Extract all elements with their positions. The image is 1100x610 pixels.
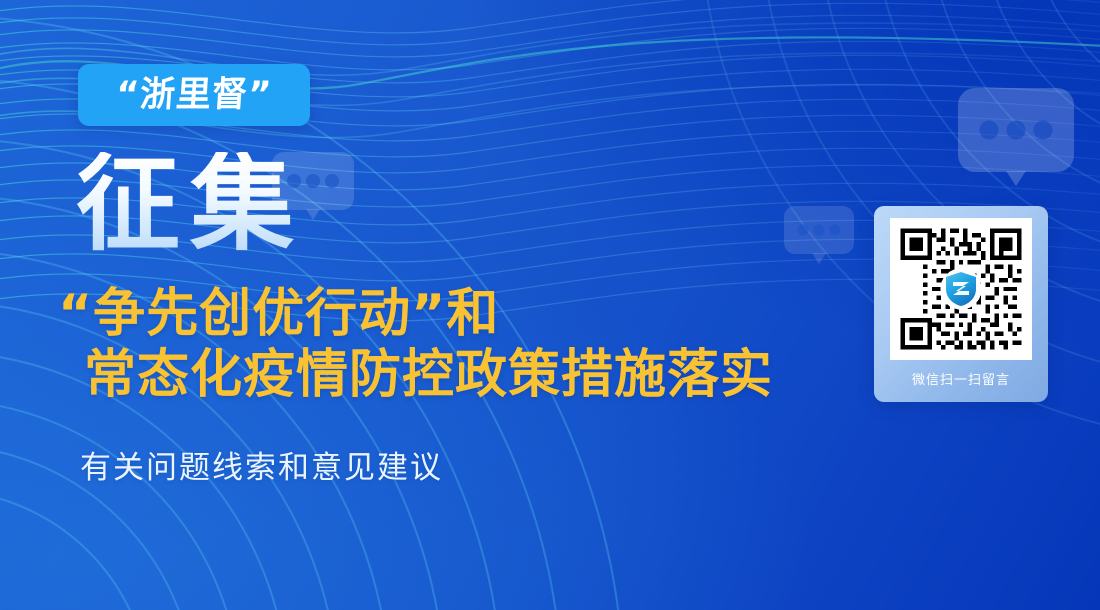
brand-badge: “浙里督” [78,64,310,126]
qr-panel: 微信扫一扫留言 [874,206,1048,402]
brand-badge-label: “浙里督” [115,78,273,113]
zhengji-title: 征集 [76,152,304,256]
qr-caption: 微信扫一扫留言 [912,369,1010,388]
promo-banner: “浙里督” 征集 “争先创优行动”和 常态化疫情防控政策措施落实 有关问题线索和… [0,0,1100,610]
headline: “争先创优行动”和 常态化疫情防控政策措施落实 [58,284,888,407]
speech-bubble-small-right [784,206,854,266]
shield-logo [944,271,978,307]
headline-line-1: “争先创优行动”和 [58,284,888,345]
speech-bubble-large-right [958,88,1076,188]
headline-line-2: 常态化疫情防控政策措施落实 [58,345,888,406]
qr-code[interactable] [890,218,1032,360]
subtitle: 有关问题线索和意见建议 [80,448,443,488]
